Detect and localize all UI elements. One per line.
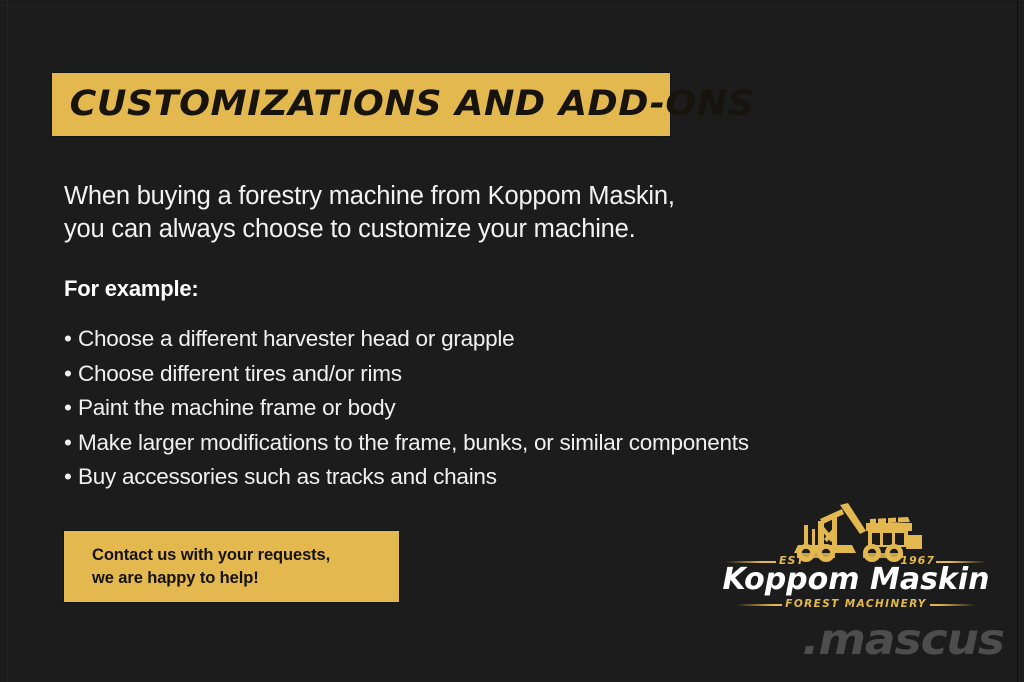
bullet-dot-icon: • — [64, 391, 72, 426]
frame-edge-top — [0, 5, 1024, 6]
for-example-label: For example: — [64, 276, 199, 302]
list-item: • Make larger modifications to the frame… — [64, 426, 964, 461]
list-item-label: Paint the machine frame or body — [78, 395, 395, 420]
intro-paragraph: When buying a forestry machine from Kopp… — [64, 180, 924, 246]
list-item: • Choose different tires and/or rims — [64, 357, 964, 392]
list-item-label: Choose different tires and/or rims — [78, 361, 402, 386]
bullet-dot-icon: • — [64, 322, 72, 357]
koppom-maskin-logo: EST 1967 Koppom Maskin FOREST MACHINERY — [722, 501, 990, 613]
intro-line-2: you can always choose to customize your … — [64, 213, 924, 246]
frame-edge-left — [7, 0, 8, 682]
logo-wordmark: Koppom Maskin — [722, 563, 990, 597]
list-item: • Choose a different harvester head or g… — [64, 322, 964, 357]
contact-callout-line-2: we are happy to help! — [92, 567, 399, 590]
mascus-watermark: .mascus — [741, 616, 1004, 664]
logo-tagline-row: FOREST MACHINERY — [722, 597, 990, 611]
list-item: • Paint the machine frame or body — [64, 391, 964, 426]
bullet-dot-icon: • — [64, 460, 72, 495]
intro-line-1: When buying a forestry machine from Kopp… — [64, 180, 924, 213]
contact-callout-line-1: Contact us with your requests, — [92, 544, 399, 567]
contact-callout-box[interactable]: Contact us with your requests, we are ha… — [64, 531, 399, 602]
list-item: • Buy accessories such as tracks and cha… — [64, 460, 964, 495]
list-item-label: Choose a different harvester head or gra… — [78, 326, 514, 351]
customization-options-list: • Choose a different harvester head or g… — [64, 322, 964, 495]
list-item-label: Make larger modifications to the frame, … — [78, 430, 749, 455]
slide-canvas: CUSTOMIZATIONS AND ADD-ONS When buying a… — [0, 0, 1024, 682]
page-title: CUSTOMIZATIONS AND ADD-ONS — [52, 87, 755, 122]
bullet-dot-icon: • — [64, 426, 72, 461]
logo-tagline-rule-right — [930, 604, 976, 606]
title-banner: CUSTOMIZATIONS AND ADD-ONS — [52, 73, 670, 136]
bullet-dot-icon: • — [64, 357, 72, 392]
frame-edge-right — [1017, 0, 1018, 682]
list-item-label: Buy accessories such as tracks and chain… — [78, 464, 497, 489]
